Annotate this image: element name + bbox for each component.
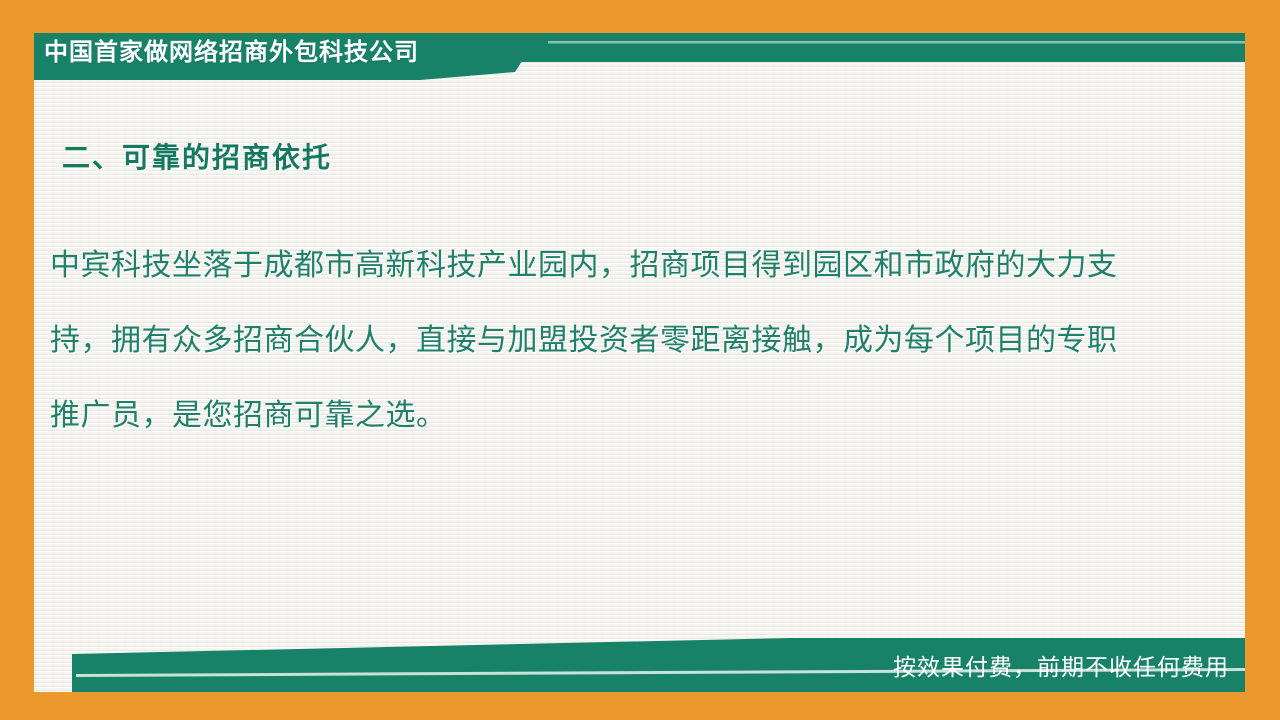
content-area: 二、可靠的招商依托 中宾科技坐落于成都市高新科技产业园内，招商项目得到园区和市政… [34,100,1245,620]
body-line-3: 推广员，是您招商可靠之选。 [50,378,1190,453]
header-left-orange-strip [0,0,34,110]
body-line-1: 中宾科技坐落于成都市高新科技产业园内，招商项目得到园区和市政府的大力支 [50,228,1190,303]
footer-right-orange-strip [1245,610,1280,720]
footer-left-orange-strip [0,610,34,720]
slide-canvas: 中国首家做网络招商外包科技公司 二、可靠的招商依托 中宾科技坐落于成都市高新科技… [0,0,1280,720]
header-right-orange-edge [1245,0,1280,110]
body-paragraph: 中宾科技坐落于成都市高新科技产业园内，招商项目得到园区和市政府的大力支 持，拥有… [50,228,1190,453]
section-heading: 二、可靠的招商依托 [62,136,332,176]
body-line-2: 持，拥有众多招商合伙人，直接与加盟投资者零距离接触，成为每个项目的专职 [50,303,1190,378]
